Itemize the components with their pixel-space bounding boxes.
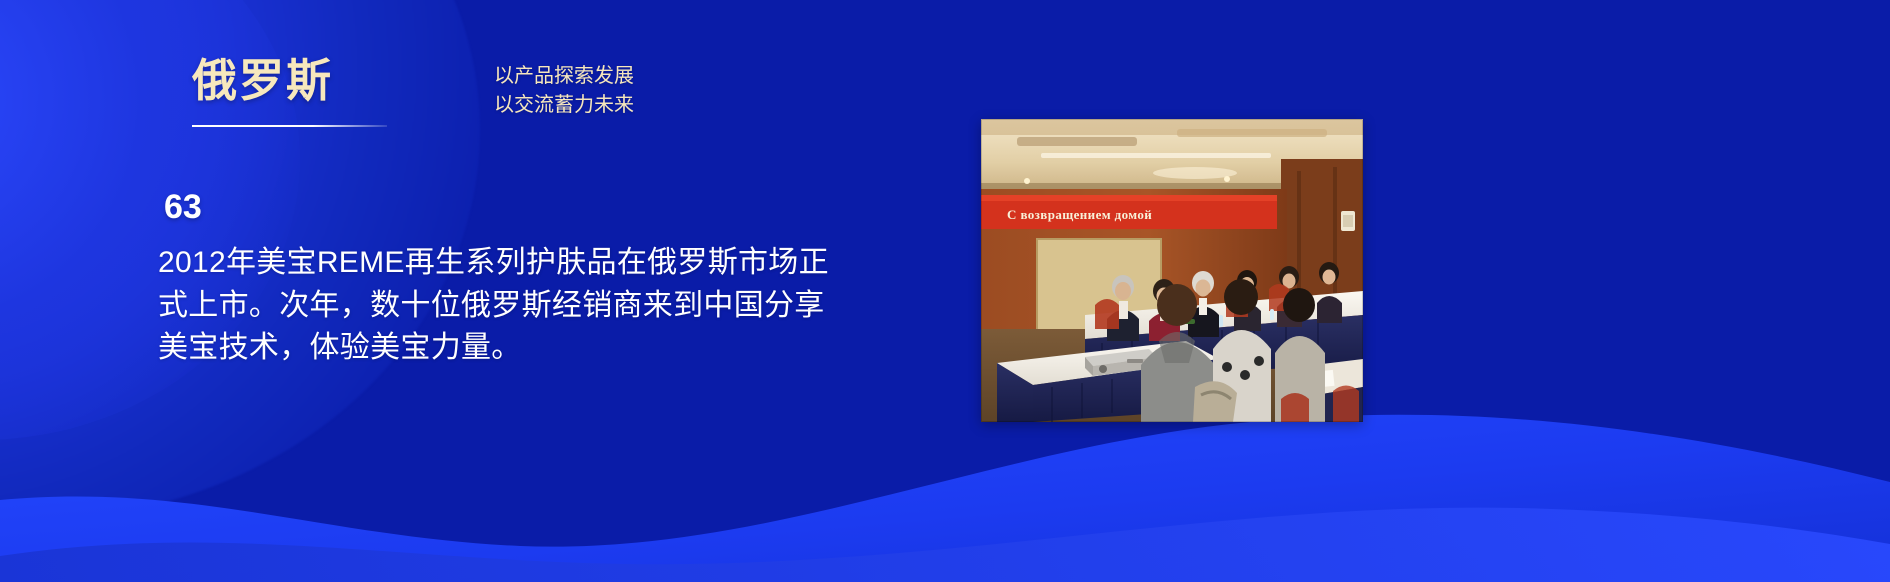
slide-content: 63 2012年美宝REME再生系列护肤品在俄罗斯市场正 式上市。次年，数十位俄… <box>158 190 878 370</box>
paragraph-line-1: 2012年美宝REME再生系列护肤品在俄罗斯市场正 <box>158 242 878 285</box>
conference-photo: С возвращением домой <box>981 119 1363 422</box>
svg-text:С возвращением домой: С возвращением домой <box>1007 207 1152 222</box>
slide-canvas: 俄罗斯 以产品探索发展 以交流蓄力未来 63 2012年美宝REME再生系列护肤… <box>0 0 1890 582</box>
slide-subtitle: 以产品探索发展 以交流蓄力未来 <box>494 62 634 120</box>
title-underline-rule <box>192 125 387 127</box>
paragraph-line-2: 式上市。次年，数十位俄罗斯经销商来到中国分享 <box>158 285 878 328</box>
page-title: 俄罗斯 <box>192 58 333 103</box>
page-title-wrap: 俄罗斯 <box>192 58 333 103</box>
subtitle-line-2: 以交流蓄力未来 <box>494 91 634 120</box>
item-number: 63 <box>164 190 878 224</box>
subtitle-line-1: 以产品探索发展 <box>494 62 634 91</box>
body-paragraph: 2012年美宝REME再生系列护肤品在俄罗斯市场正 式上市。次年，数十位俄罗斯经… <box>158 242 878 370</box>
paragraph-line-3: 美宝技术，体验美宝力量。 <box>158 327 878 370</box>
slide-header: 俄罗斯 以产品探索发展 以交流蓄力未来 <box>0 0 1890 150</box>
